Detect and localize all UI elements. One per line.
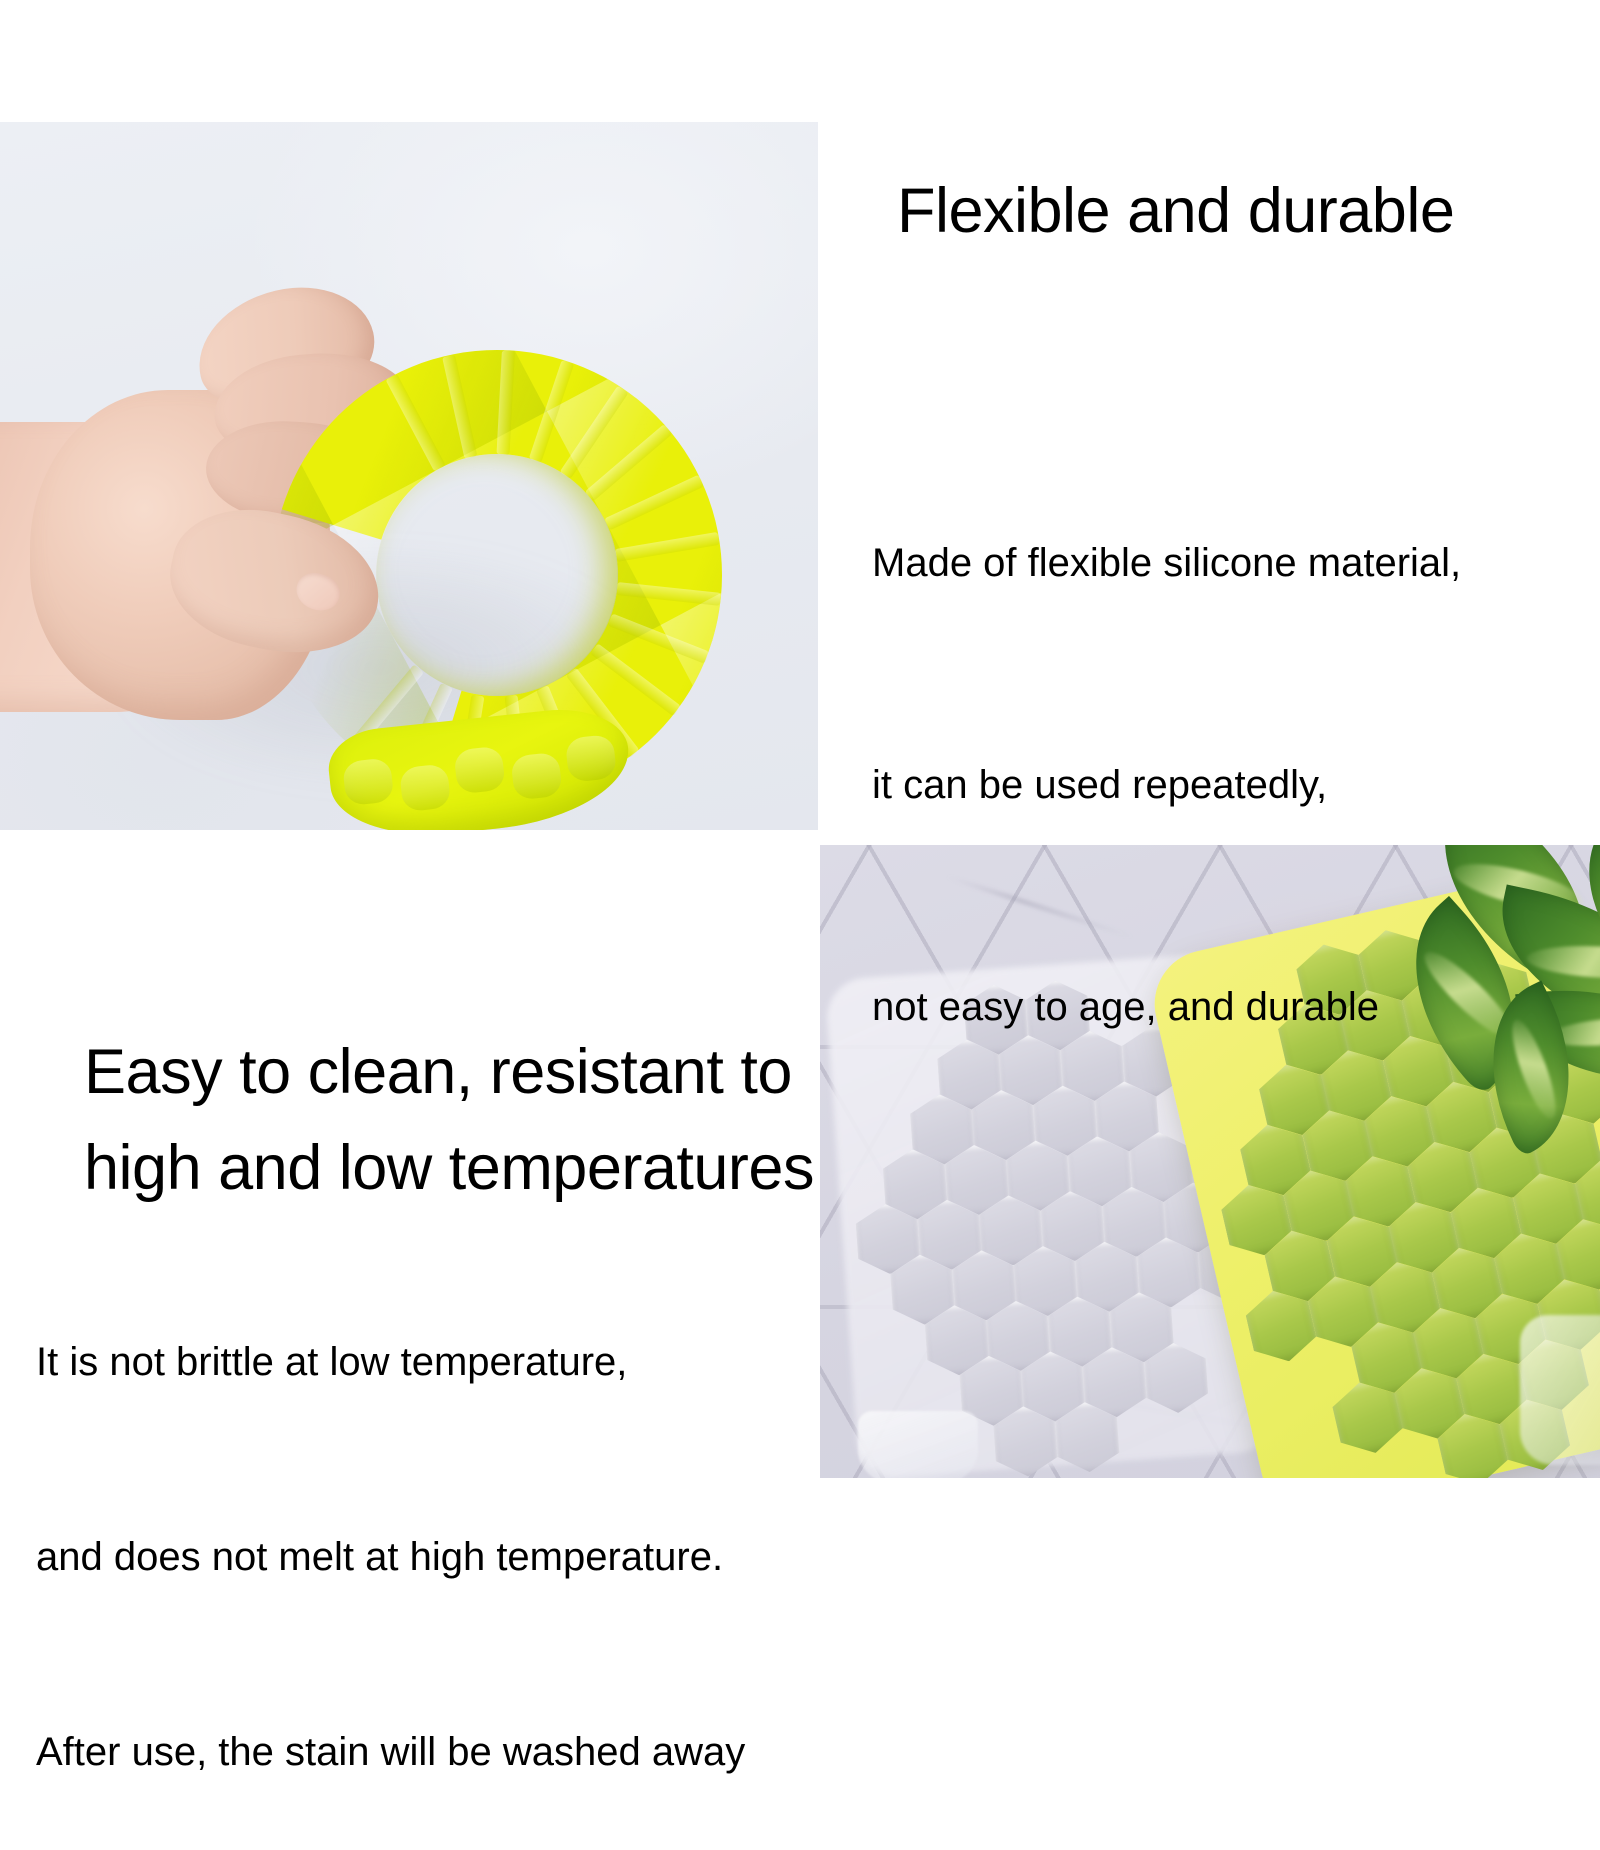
leaf-variegation — [1505, 1015, 1564, 1122]
tray-flap-notch — [565, 734, 617, 783]
headline-line: high and low temperatures — [84, 1133, 814, 1203]
body-line: it can be used repeatedly, — [872, 748, 1461, 822]
body-flexible-and-durable: Made of flexible silicone material, it c… — [872, 378, 1461, 1118]
tray-flap-notch — [342, 757, 394, 806]
photo-hand-bending-tray — [0, 122, 818, 830]
glass-object-right — [1520, 1315, 1600, 1465]
body-line: not easy to age, and durable — [872, 970, 1461, 1044]
body-line: After use, the stain will be washed away — [36, 1720, 745, 1785]
glass-jar-bottom-left — [858, 1411, 978, 1478]
leaf-variegation — [1526, 942, 1600, 981]
tray-flap-notch — [453, 746, 505, 795]
body-line: Made of flexible silicone material, — [872, 526, 1461, 600]
headline-flexible-and-durable: Flexible and durable — [897, 172, 1454, 250]
headline-line: Easy to clean, resistant to — [84, 1037, 792, 1107]
tray-flap-notch — [510, 752, 562, 801]
body-line: It is not brittle at low temperature, — [36, 1330, 745, 1395]
body-line: and does not melt at high temperature. — [36, 1525, 745, 1590]
body-easy-to-clean: It is not brittle at low temperature, an… — [36, 1200, 745, 1850]
headline-easy-to-clean: Easy to clean, resistant to high and low… — [50, 928, 814, 1216]
tray-flap-notch — [399, 763, 451, 812]
